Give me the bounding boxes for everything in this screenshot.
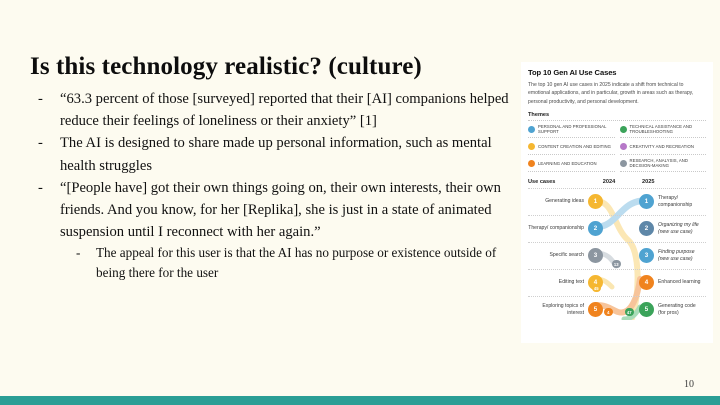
infographic-image: Top 10 Gen AI Use Cases The top 10 gen A… xyxy=(521,62,713,343)
legend-item-technical-assistance: TECHNICAL ASSISTANCE AND TROUBLESHOOTING xyxy=(620,121,707,138)
bullet-marker: - xyxy=(36,177,60,199)
rank-circle-2025: 1 xyxy=(639,194,654,209)
legend-dot-icon xyxy=(528,160,535,167)
use-case-2025-note: (new use case) xyxy=(658,229,693,235)
bullet-list: - “63.3 percent of those [surveyed] repo… xyxy=(36,88,514,283)
use-case-2025: Enhanced learning xyxy=(654,279,706,286)
legend-label: PERSONAL AND PROFESSIONAL SUPPORT xyxy=(538,124,615,135)
rank-circle-2024: 3 xyxy=(588,248,603,263)
use-case-2024: Generating ideas xyxy=(528,198,588,205)
use-case-2024: Editing text xyxy=(528,279,588,286)
use-case-2025-label: Therapy/ companionship xyxy=(658,195,692,208)
sub-bullet-text: The appeal for this user is that the AI … xyxy=(96,243,514,283)
use-case-2025: Organizing my life (new use case) xyxy=(654,222,706,235)
legend-label: TECHNICAL ASSISTANCE AND TROUBLESHOOTING xyxy=(630,124,707,135)
legend-dot-icon xyxy=(620,143,627,150)
rank-rows: Generating ideas 1 1 Therapy/ companions… xyxy=(528,188,706,323)
use-case-2024: Therapy/ companionship xyxy=(528,225,588,232)
legend-dot-icon xyxy=(528,126,535,133)
use-case-2025-note: (new use case) xyxy=(658,256,693,262)
rank-circle-2024: 2 xyxy=(588,221,603,236)
use-case-2025-label: Finding purpose xyxy=(658,249,695,255)
use-case-2025-label: Organizing my life xyxy=(658,222,699,228)
bullet-text: The AI is designed to share made up pers… xyxy=(60,132,514,176)
column-header-2024: 2024 xyxy=(586,179,632,185)
rank-circle-2024: 5 xyxy=(588,302,603,317)
use-case-2024: Specific search xyxy=(528,252,588,259)
legend-label: LEARNING AND EDUCATION xyxy=(538,161,597,166)
page-number: 10 xyxy=(684,379,694,390)
rank-circle-2025: 2 xyxy=(639,221,654,236)
legend-dot-icon xyxy=(620,160,627,167)
slide: Is this technology realistic? (culture) … xyxy=(0,0,720,405)
legend-item-research-analysis: RESEARCH, ANALYSIS, AND DECISION-MAKING xyxy=(620,155,707,172)
list-item: - “[People have] got their own things go… xyxy=(36,177,514,244)
sub-bullet-list: - The appeal for this user is that the A… xyxy=(36,243,514,283)
rank-circle-2025: 4 xyxy=(639,275,654,290)
rank-circle-2024: 1 xyxy=(588,194,603,209)
use-case-2025: Therapy/ companionship xyxy=(654,195,706,208)
use-case-2025: Finding purpose (new use case) xyxy=(654,249,706,262)
bullet-text: “63.3 percent of those [surveyed] report… xyxy=(60,88,514,132)
rank-chart: Use cases 2024 2025 xyxy=(528,179,706,323)
table-row: Exploring topics of interest 5 5 Generat… xyxy=(528,296,706,323)
table-row: Therapy/ companionship 2 2 Organizing my… xyxy=(528,215,706,242)
footer-accent-bar xyxy=(0,396,720,405)
legend-item-creativity-recreation: CREATIVITY AND RECREATION xyxy=(620,138,707,155)
legend-dot-icon xyxy=(620,126,627,133)
legend-label: RESEARCH, ANALYSIS, AND DECISION-MAKING xyxy=(630,158,707,169)
page-title: Is this technology realistic? (culture) xyxy=(30,53,422,82)
use-case-2025-note: (for pros) xyxy=(658,310,679,316)
bullet-text: “[People have] got their own things goin… xyxy=(60,177,514,244)
themes-legend: PERSONAL AND PROFESSIONAL SUPPORT TECHNI… xyxy=(528,120,706,172)
mini-rank-badge: 4 xyxy=(604,308,613,317)
column-header-use-cases: Use cases xyxy=(528,179,586,185)
infographic-description: The top 10 gen AI use cases in 2025 indi… xyxy=(528,81,706,106)
legend-item-personal-support: PERSONAL AND PROFESSIONAL SUPPORT xyxy=(528,121,615,138)
table-row: Editing text 4 4 Enhanced learning xyxy=(528,269,706,296)
bullet-marker: - xyxy=(36,132,60,154)
legend-item-learning-education: LEARNING AND EDUCATION xyxy=(528,155,615,172)
legend-dot-icon xyxy=(528,143,535,150)
list-item: - The AI is designed to share made up pe… xyxy=(36,132,514,176)
use-case-2025-label: Generating code xyxy=(658,303,696,309)
list-item: - “63.3 percent of those [surveyed] repo… xyxy=(36,88,514,132)
themes-heading: Themes xyxy=(528,112,706,118)
sub-bullet-marker: - xyxy=(74,243,96,263)
mini-rank-badge: 13 xyxy=(612,260,621,269)
mini-rank-badge: 47 xyxy=(625,308,634,317)
sub-list-item: - The appeal for this user is that the A… xyxy=(74,243,514,283)
use-case-2025: Generating code (for pros) xyxy=(654,303,706,316)
legend-label: CONTENT CREATION AND EDITING xyxy=(538,144,611,149)
column-header-2025: 2025 xyxy=(632,179,706,185)
rank-circle-2025: 3 xyxy=(639,248,654,263)
legend-item-content-creation: CONTENT CREATION AND EDITING xyxy=(528,138,615,155)
infographic-title: Top 10 Gen AI Use Cases xyxy=(528,68,706,77)
table-row: Generating ideas 1 1 Therapy/ companions… xyxy=(528,188,706,215)
mini-rank-badge: 45 xyxy=(592,284,601,293)
rank-chart-header: Use cases 2024 2025 xyxy=(528,179,706,188)
rank-circle-2025: 5 xyxy=(639,302,654,317)
legend-label: CREATIVITY AND RECREATION xyxy=(630,144,695,149)
bullet-marker: - xyxy=(36,88,60,110)
use-case-2024: Exploring topics of interest xyxy=(528,303,588,316)
use-case-2025-label: Enhanced learning xyxy=(658,279,700,285)
